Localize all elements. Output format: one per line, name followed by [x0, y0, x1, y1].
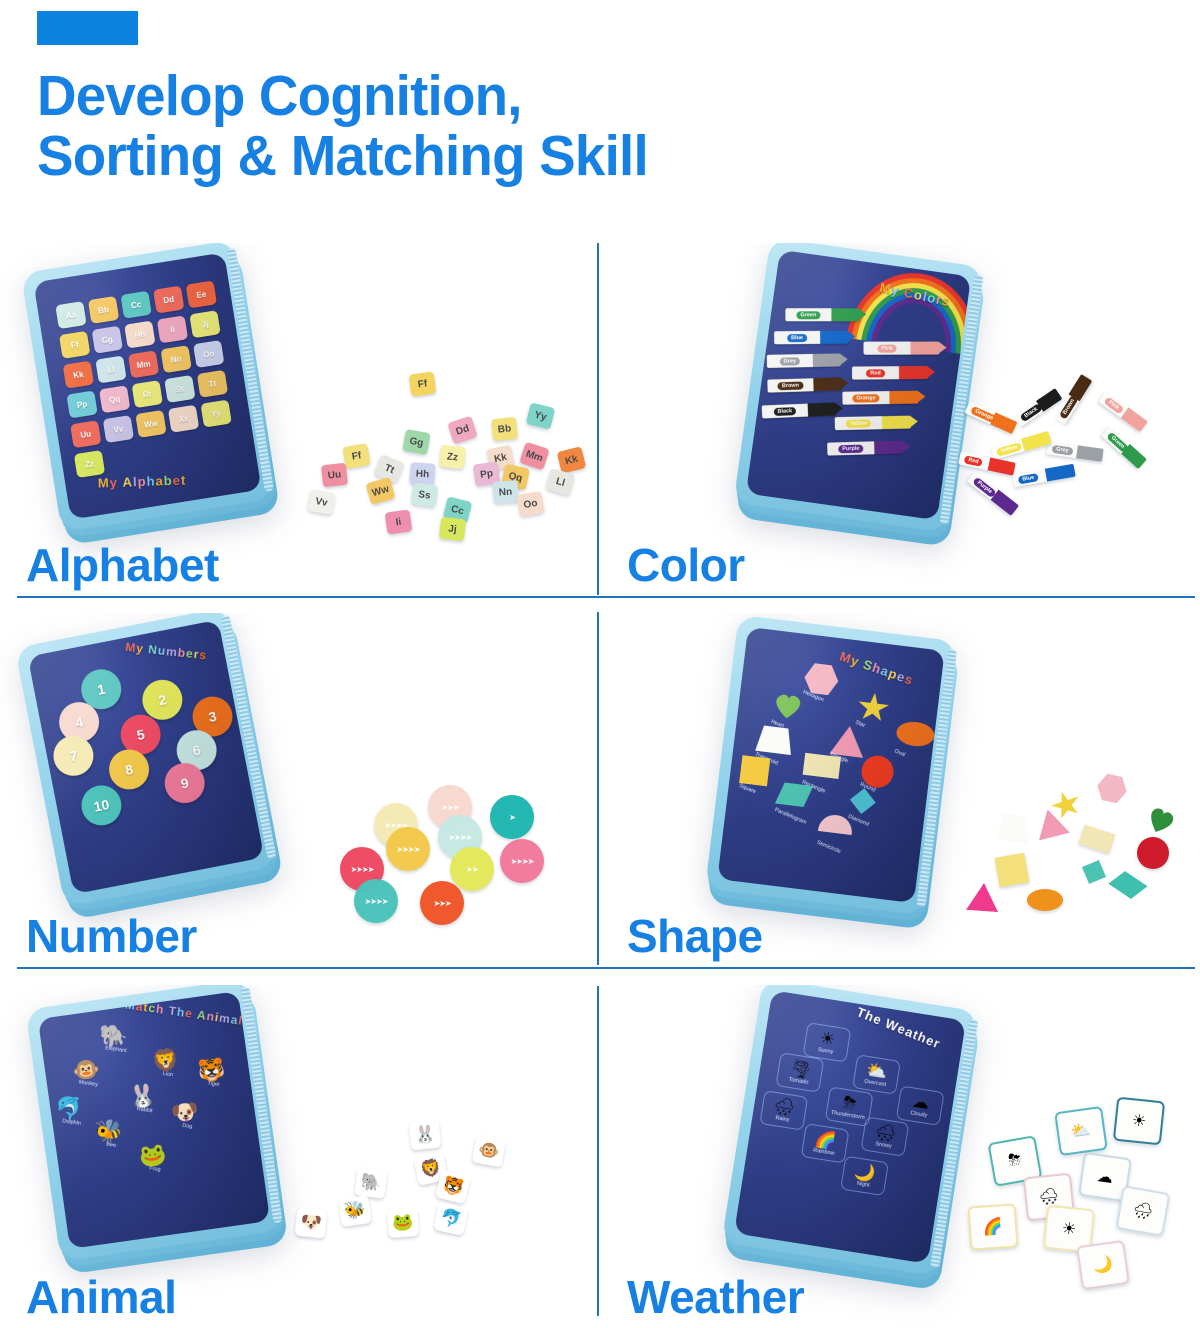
animal-token-dog[interactable]: 🐶 — [295, 1208, 328, 1239]
crayon-body — [1121, 407, 1148, 432]
crayon-yellow: Yellow — [835, 416, 911, 431]
crayon-label: Pink — [877, 344, 897, 352]
weather-slot-tornado: 🌪Tornado — [776, 1052, 825, 1092]
alphabet-tile: Mm — [128, 350, 159, 378]
alphabet-tile: Oo — [193, 340, 224, 368]
felt-shape-square — [739, 755, 770, 786]
crayon-label: Red — [866, 369, 884, 377]
alphabet-tile: Rr — [132, 380, 163, 408]
weather-card-sunny[interactable]: ☀ — [1113, 1097, 1165, 1146]
crayon-tip — [917, 391, 925, 403]
crayon-label: Yellow — [996, 442, 1022, 457]
crayon-tip — [939, 342, 947, 354]
crayon-wrapper: Red — [852, 366, 899, 379]
animal-book[interactable]: 🐘Elephant🦁Lion🐵Monkey🐯Tiger🐰Rabbit🐬Dolph… — [25, 985, 282, 1261]
crayon-grey: Grey — [767, 353, 841, 368]
alphabet-tile: Xx — [168, 405, 199, 433]
animal-token-elephant[interactable]: 🐘 — [354, 1167, 388, 1199]
cell-color: My ColorsGreenBlueGreyBrownBlackPinkRedO… — [599, 243, 1200, 596]
cover-title: My Numbers — [125, 640, 208, 663]
weather-slot-rainbow: 🌈Rainbow — [801, 1123, 850, 1163]
letter-tile[interactable]: Oo — [516, 491, 544, 517]
crayon-pink: Pink — [864, 342, 940, 355]
weather-label: Sunny — [817, 1047, 833, 1055]
crayon-tip — [858, 308, 866, 320]
alphabet-loose-tiles[interactable]: FfYyBbDdGgFfZzKkMmKkTtUuHhPpQqLlWwSsNnVv… — [282, 363, 582, 563]
alphabet-tile: Yy — [200, 400, 231, 428]
shape-book[interactable]: HexagonStarHeartOvalTrapezoidTriangleRou… — [705, 615, 957, 916]
crayon-blue: Blue — [774, 331, 848, 345]
crayon-brown: Brown — [767, 377, 841, 392]
weather-card-rainbow[interactable]: 🌈 — [968, 1203, 1019, 1250]
felt-shape-trapezoid — [755, 725, 794, 755]
weather-card-night[interactable]: 🌙 — [1076, 1240, 1130, 1290]
felt-shape-rectangle — [803, 753, 841, 779]
loose-felt-oval[interactable] — [1027, 889, 1063, 911]
alphabet-tile: Uu — [70, 420, 101, 448]
animal-slot: 🐰Rabbit — [124, 1083, 162, 1115]
weather-card-overcast[interactable]: ⛅ — [1054, 1106, 1108, 1156]
loose-crayon-purple[interactable]: Purple — [967, 471, 1019, 516]
shape-label: Semicircle — [816, 840, 842, 855]
alphabet-tile: Ss — [164, 375, 195, 403]
crayon-label: Grey — [1052, 444, 1073, 455]
book-case-edge: 🐘Elephant🦁Lion🐵Monkey🐯Tiger🐰Rabbit🐬Dolph… — [25, 985, 282, 1261]
infographic-page: Develop Cognition, Sorting & Matching Sk… — [0, 0, 1200, 1328]
felt-shape-oval — [895, 720, 936, 748]
alphabet-book[interactable]: AaBbCcDdEeFfGgHhIiJjKkLlMmNnOoPpQqRrSsTt… — [21, 243, 274, 532]
crayon-body — [1045, 464, 1075, 482]
crayon-tip — [835, 402, 843, 414]
animal-slot: 🐘Elephant — [96, 1023, 134, 1055]
count-disc[interactable]: ➤➤➤➤ — [354, 879, 398, 923]
crayon-body — [1076, 445, 1103, 461]
weather-label: Rainy — [775, 1115, 790, 1123]
loose-felt-hexagon[interactable] — [1095, 772, 1130, 805]
accent-bar — [37, 11, 138, 45]
loose-crayon-orange[interactable]: Orange — [965, 401, 1018, 434]
shape-label: Oval — [893, 748, 906, 758]
count-disc[interactable]: ➤➤ — [450, 847, 494, 891]
animal-slot: 🐝Bee — [91, 1118, 129, 1150]
cell-label-shape: Shape — [627, 911, 763, 961]
letter-tile[interactable]: Mm — [519, 442, 550, 471]
weather-label: Cloudy — [910, 1110, 928, 1119]
crayon-label: Green — [796, 311, 820, 319]
cell-alphabet: AaBbCcDdEeFfGgHhIiJjKkLlMmNnOoPpQqRrSsTt… — [0, 243, 597, 596]
color-loose-crayons[interactable]: OrangeBlackBrownPinkGreyGreenYellowRedBl… — [951, 371, 1191, 541]
weather-rainy-icon: 🌧 — [772, 1097, 796, 1117]
book-case-edge: My ColorsGreenBlueGreyBrownBlackPinkRedO… — [733, 243, 983, 533]
loose-felt-square[interactable] — [995, 853, 1030, 888]
weather-thunderstorm-icon: ⛈ — [842, 1094, 858, 1113]
alphabet-tile: Ll — [95, 355, 126, 383]
weather-loose-cards[interactable]: ⛅☀⛈☁🌨🌧🌈☀🌙 — [929, 1093, 1179, 1303]
crayon-red: Red — [852, 366, 928, 380]
cell-label-weather: Weather — [627, 1272, 804, 1322]
book-case-edge: HexagonStarHeartOvalTrapezoidTriangleRou… — [705, 615, 957, 916]
letter-tile[interactable]: Ll — [545, 468, 575, 496]
crayon-wrapper: Brown — [767, 378, 813, 392]
count-disc[interactable]: ➤➤➤ — [420, 881, 464, 925]
alphabet-tile: Aa — [55, 301, 86, 329]
letter-tile[interactable]: Yy — [526, 402, 556, 429]
weather-overcast-icon: ⛅ — [865, 1061, 889, 1081]
cover-title: Match The Animals — [124, 998, 251, 1029]
crayon-wrapper: Blue — [774, 331, 820, 344]
crayon-orange: Orange — [842, 391, 918, 405]
loose-crayon-black[interactable]: Black — [1014, 388, 1063, 427]
crayon-label: Green — [1106, 431, 1129, 453]
crayon-body — [988, 458, 1016, 476]
shape-label: Parallelogram — [774, 807, 808, 826]
crayon-label: Blue — [787, 333, 807, 341]
animal-token-bee[interactable]: 🐝 — [338, 1195, 372, 1227]
crayon-purple: Purple — [827, 441, 903, 456]
cover-title: The Weather — [855, 1004, 943, 1051]
loose-felt-triangle[interactable] — [966, 882, 1000, 912]
color-cover: My ColorsGreenBlueGreyBrownBlackPinkRedO… — [746, 250, 971, 520]
letter-tile[interactable]: Ff — [409, 371, 437, 396]
animal-token-tiger[interactable]: 🐯 — [435, 1170, 471, 1204]
loose-felt-heart[interactable] — [1143, 802, 1179, 837]
count-disc[interactable]: ➤➤➤➤ — [500, 839, 544, 883]
cell-label-alphabet: Alphabet — [26, 540, 219, 590]
letter-tile[interactable]: Dd — [447, 416, 478, 445]
weather-slot-snowy: 🌨Snowy — [861, 1116, 910, 1156]
weather-slot-overcast: ⛅Overcast — [852, 1054, 901, 1094]
crayon-label: Grey — [779, 357, 800, 365]
loose-felt-diamond[interactable] — [1077, 855, 1111, 889]
animal-token-monkey[interactable]: 🐵 — [472, 1135, 506, 1168]
felt-shape-parallelogram — [775, 782, 813, 808]
letter-tile[interactable]: Uu — [321, 463, 348, 487]
letter-tile[interactable]: Kk — [557, 446, 587, 473]
color-book[interactable]: My ColorsGreenBlueGreyBrownBlackPinkRedO… — [733, 243, 983, 533]
crayon-wrapper: Green — [785, 308, 831, 321]
crayon-tip — [902, 440, 910, 452]
crayon-label: Red — [964, 455, 984, 467]
count-disc[interactable]: ➤ — [490, 795, 534, 839]
loose-felt-rectangle[interactable] — [1079, 825, 1116, 854]
crayon-tip — [910, 415, 918, 427]
alphabet-tile: Zz — [74, 450, 105, 478]
divider-horizontal-2 — [17, 967, 1195, 969]
count-disc[interactable]: ➤➤➤➤ — [386, 827, 430, 871]
animal-cover: 🐘Elephant🦁Lion🐵Monkey🐯Tiger🐰Rabbit🐬Dolph… — [38, 991, 270, 1249]
number-circle: 7 — [50, 732, 97, 779]
loose-felt-round[interactable] — [1137, 837, 1169, 869]
crayon-label: Orange — [852, 394, 879, 402]
weather-tornado-icon: 🌪 — [788, 1059, 812, 1079]
alphabet-tile: Ff — [59, 331, 90, 359]
crayon-label: Black — [1019, 403, 1042, 422]
crayon-label: Yellow — [846, 419, 871, 428]
crayon-wrapper: Black — [762, 404, 808, 419]
shape-loose-felt[interactable] — [951, 763, 1181, 933]
crayon-label: Purple — [972, 476, 997, 498]
number-loose-discs[interactable]: ➤➤➤➤➤➤➤➤➤➤➤➤➤➤➤➤➤➤➤➤➤➤➤➤➤➤➤➤➤➤➤➤➤ — [310, 777, 560, 937]
alphabet-tile: Vv — [103, 415, 134, 443]
weather-rainbow-icon: 🌈 — [814, 1130, 838, 1150]
crayon-label: Brown — [778, 381, 803, 390]
letter-tile[interactable]: Ii — [385, 509, 413, 534]
crayon-tip — [840, 377, 848, 389]
crayon-label: Black — [773, 407, 796, 416]
crayon-tip — [927, 366, 935, 378]
felt-shape-star — [856, 691, 891, 725]
weather-sunny-icon: ☀ — [819, 1029, 837, 1048]
weather-slot-night: 🌙Night — [840, 1156, 889, 1196]
letter-tile[interactable]: Bb — [491, 417, 518, 441]
crayon-black: Black — [762, 402, 836, 418]
alphabet-tile: Bb — [88, 296, 119, 324]
page-title: Develop Cognition, Sorting & Matching Sk… — [37, 66, 997, 186]
animal-token-dolphin[interactable]: 🐬 — [433, 1202, 468, 1236]
letter-tile[interactable]: Ss — [411, 482, 439, 507]
alphabet-tile: Pp — [66, 390, 97, 418]
crayon-wrapper: Pink — [864, 342, 911, 355]
crayon-wrapper: Purple — [827, 441, 874, 455]
animal-slot: 🐬Dolphin — [51, 1095, 89, 1127]
crayon-tip — [847, 330, 855, 342]
cell-label-animal: Animal — [26, 1272, 176, 1322]
alphabet-tile: Nn — [160, 345, 191, 373]
letter-tile[interactable]: Jj — [439, 517, 466, 541]
alphabet-tile: Gg — [92, 326, 123, 354]
crayon-green: Green — [785, 308, 859, 321]
animal-slot: 🐯Tiger — [193, 1057, 231, 1089]
crayon-tip — [840, 353, 848, 365]
cell-shape: HexagonStarHeartOvalTrapezoidTriangleRou… — [599, 613, 1200, 967]
loose-felt-trapezoid[interactable] — [995, 813, 1032, 843]
crayon-label: Blue — [1018, 473, 1039, 484]
alphabet-cover: AaBbCcDdEeFfGgHhIiJjKkLlMmNnOoPpQqRrSsTt… — [33, 252, 261, 519]
alphabet-tile: Tt — [197, 370, 228, 398]
shape-cover: HexagonStarHeartOvalTrapezoidTriangleRou… — [717, 627, 944, 903]
shape-label: Star — [854, 720, 866, 729]
felt-shape-heart — [771, 691, 804, 720]
loose-crayon-yellow[interactable]: Yellow — [990, 431, 1051, 460]
weather-label: Thunderstorm — [830, 1110, 865, 1121]
letter-tile[interactable]: Vv — [307, 489, 335, 515]
weather-slot-rainy: 🌧Rainy — [759, 1090, 808, 1130]
cell-weather: ☀Sunny⛅Overcast☁Cloudy🌪Tornado⛈Thunderst… — [599, 985, 1200, 1328]
weather-label: Night — [856, 1181, 870, 1189]
crayon-label: Purple — [838, 444, 863, 453]
animal-loose-tokens[interactable]: 🐰🐵🦁🐘🐯🐝🐶🐸🐬 — [288, 1113, 538, 1288]
weather-cloudy-icon: ☁ — [911, 1093, 930, 1112]
animal-slot: 🐸Frog — [135, 1142, 173, 1174]
crayon-wrapper: Orange — [842, 391, 889, 405]
weather-snowy-icon: 🌨 — [873, 1123, 897, 1143]
cell-number: 12345678910My Numbers ➤➤➤➤➤➤➤➤➤➤➤➤➤➤➤➤➤➤… — [0, 613, 597, 967]
cover-title: My Alphabet — [98, 472, 187, 490]
letter-tile[interactable]: Nn — [492, 480, 518, 504]
alphabet-tile: Jj — [189, 310, 220, 338]
animal-token-rabbit[interactable]: 🐰 — [409, 1120, 442, 1151]
number-book[interactable]: 12345678910My Numbers — [15, 613, 277, 907]
alphabet-tile: Hh — [124, 321, 155, 349]
weather-label: Snowy — [875, 1141, 892, 1150]
weather-night-icon: 🌙 — [853, 1162, 877, 1182]
letter-tile[interactable]: Ff — [342, 443, 370, 469]
animal-slot: 🐵Monkey — [68, 1057, 106, 1089]
divider-horizontal-1 — [17, 596, 1195, 598]
alphabet-tile: Ww — [135, 410, 166, 438]
alphabet-tile: Kk — [63, 361, 94, 389]
loose-crayon-green[interactable]: Green — [1101, 426, 1147, 469]
alphabet-tile: Dd — [153, 286, 184, 314]
loose-crayon-grey[interactable]: Grey — [1046, 441, 1103, 462]
cell-label-number: Number — [26, 911, 197, 961]
alphabet-tile: Ee — [186, 280, 217, 308]
loose-felt-parallelogram[interactable] — [1108, 867, 1147, 903]
number-circle: 10 — [78, 782, 125, 829]
cell-label-color: Color — [627, 540, 745, 590]
weather-card-rainy[interactable]: 🌧 — [1116, 1185, 1171, 1237]
cover-title: My Shapes — [838, 649, 916, 688]
loose-crayon-pink[interactable]: Pink — [1098, 391, 1148, 432]
letter-tile[interactable]: Gg — [402, 429, 430, 455]
crayon-label: Orange — [970, 405, 998, 423]
animal-slot: 🦁Lion — [148, 1048, 186, 1080]
alphabet-tile: Ii — [157, 315, 188, 343]
letter-tile[interactable]: Hh — [409, 462, 435, 486]
alphabet-tile: Cc — [120, 291, 151, 319]
crayon-label: Pink — [1104, 396, 1125, 414]
cell-animal: 🐘Elephant🦁Lion🐵Monkey🐯Tiger🐰Rabbit🐬Dolph… — [0, 985, 597, 1328]
crayon-wrapper: Grey — [767, 354, 813, 368]
alphabet-tile: Qq — [99, 385, 130, 413]
loose-crayon-blue[interactable]: Blue — [1012, 464, 1075, 488]
crayon-wrapper: Yellow — [835, 416, 882, 430]
animal-slot: 🐶Dog — [167, 1099, 205, 1131]
book-case-edge: AaBbCcDdEeFfGgHhIiJjKkLlMmNnOoPpQqRrSsTt… — [21, 243, 274, 532]
animal-token-frog[interactable]: 🐸 — [387, 1208, 419, 1238]
letter-tile[interactable]: Zz — [439, 445, 466, 469]
